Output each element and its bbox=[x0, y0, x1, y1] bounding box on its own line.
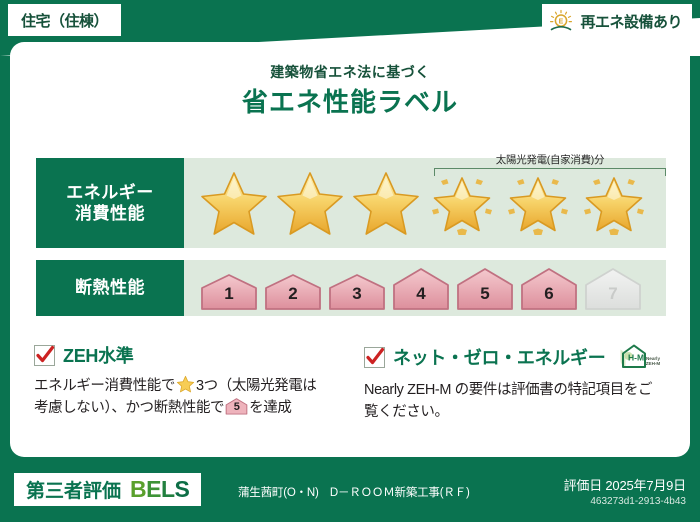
energy-label-line1: エネルギー bbox=[66, 182, 154, 203]
criteria-section: ZEH水準 エネルギー消費性能で3つ（太陽光発電は考慮しない）、かつ断熱性能で5… bbox=[10, 342, 690, 423]
project-name-text: 蒲生茜町(O・N) D－ＲＯＯＭ新築工事(ＲＦ) bbox=[238, 484, 470, 500]
label-subtitle: 建築物省エネ法に基づく bbox=[10, 62, 690, 82]
house-level-inactive-icon bbox=[583, 265, 643, 311]
zeh-body-part-a: エネルギー消費性能で bbox=[34, 378, 175, 394]
house-level-icon bbox=[391, 265, 451, 311]
zehm-house-icon: H-M Nearly ZEH-M bbox=[617, 342, 661, 372]
svg-text:E: E bbox=[559, 19, 564, 26]
nearly-zehm-logo: H-M Nearly ZEH-M bbox=[617, 342, 661, 372]
nze-criteria-block: ネット・ゼロ・エネルギー H-M Nearly ZEH-M Nearly ZEH… bbox=[350, 342, 690, 423]
insulation-performance-label: 断熱性能 bbox=[36, 260, 184, 316]
nze-checkbox[interactable] bbox=[364, 347, 385, 368]
house-level-icon bbox=[455, 265, 515, 311]
star-6-solar bbox=[576, 165, 652, 241]
footer-bar: 第三者評価 BELS 蒲生茜町(O・N) D－ＲＯＯＭ新築工事(ＲＦ) 評価日 … bbox=[0, 462, 700, 522]
insulation-level-3: 3 bbox=[326, 271, 388, 311]
energy-performance-label: エネルギー 消費性能 bbox=[36, 158, 184, 248]
nze-criteria-title: ネット・ゼロ・エネルギー bbox=[393, 344, 605, 370]
insulation-level-4: 4 bbox=[390, 265, 452, 311]
house-level-icon bbox=[263, 271, 323, 311]
bels-wordmark: BELS bbox=[130, 476, 189, 503]
zeh-body-part-b: 3つ（太陽光発電 bbox=[196, 378, 302, 394]
evaluation-date: 評価日 2025年7月9日 bbox=[564, 475, 686, 494]
star-3 bbox=[348, 165, 424, 241]
bels-jp-label: 第三者評価 bbox=[26, 476, 121, 503]
house-level-icon bbox=[199, 271, 259, 311]
star-icon bbox=[176, 375, 195, 393]
zeh-criteria-title: ZEH水準 bbox=[63, 342, 134, 368]
zeh-criteria-body: エネルギー消費性能で3つ（太陽光発電は考慮しない）、かつ断熱性能で5を達成 bbox=[34, 375, 326, 419]
star-solar-icon bbox=[578, 168, 650, 238]
house-level-5-icon: 5 bbox=[225, 397, 248, 415]
nze-criteria-body: Nearly ZEH-M の要件は評価書の特記項目をご覧ください。 bbox=[364, 379, 666, 423]
renewable-equipment-badge: E 再エネ設備あり bbox=[542, 4, 692, 38]
solar-annotation-label: 太陽光発電(自家消費)分 bbox=[434, 152, 666, 167]
building-type-label: 住宅（住棟） bbox=[21, 10, 108, 31]
star-icon bbox=[198, 168, 270, 238]
insulation-level-1: 1 bbox=[198, 271, 260, 311]
nze-criteria-header: ネット・ゼロ・エネルギー H-M Nearly ZEH-M bbox=[364, 342, 666, 372]
check-icon bbox=[364, 347, 386, 367]
zehm-logo-caption-2: ZEH-M bbox=[646, 361, 661, 366]
solar-bracket bbox=[434, 168, 666, 176]
star-2 bbox=[272, 165, 348, 241]
star-5-solar bbox=[500, 165, 576, 241]
star-icon bbox=[274, 168, 346, 238]
zeh-criteria-block: ZEH水準 エネルギー消費性能で3つ（太陽光発電は考慮しない）、かつ断熱性能で5… bbox=[10, 342, 350, 423]
check-icon bbox=[34, 345, 56, 365]
bels-certification-plate: 第三者評価 BELS bbox=[14, 473, 201, 506]
inline-house-number: 5 bbox=[225, 397, 248, 415]
energy-label-line2: 消費性能 bbox=[75, 203, 145, 224]
star-4-solar bbox=[424, 165, 500, 241]
renewable-equipment-label: 再エネ設備あり bbox=[580, 11, 682, 32]
star-1 bbox=[196, 165, 272, 241]
zeh-body-part-d: を達成 bbox=[249, 400, 291, 416]
star-solar-icon bbox=[502, 168, 574, 238]
evaluation-id: 463273d1-2913-4b43 bbox=[564, 496, 686, 507]
insulation-level-6: 6 bbox=[518, 265, 580, 311]
evaluation-info: 評価日 2025年7月9日 463273d1-2913-4b43 bbox=[564, 475, 686, 507]
building-type-tag: 住宅（住棟） bbox=[8, 4, 121, 36]
star-solar-icon bbox=[426, 168, 498, 238]
insulation-levels-panel: 1 2 3 4 bbox=[184, 260, 666, 316]
insulation-level-group: 1 2 3 4 bbox=[184, 260, 666, 316]
label-card: 建築物省エネ法に基づく 省エネ性能ラベル エネルギー 消費性能 bbox=[10, 42, 690, 457]
insulation-level-7: 7 bbox=[582, 265, 644, 311]
house-level-icon bbox=[327, 271, 387, 311]
insulation-level-2: 2 bbox=[262, 271, 324, 311]
insulation-level-5: 5 bbox=[454, 265, 516, 311]
star-icon bbox=[350, 168, 422, 238]
label-title: 省エネ性能ラベル bbox=[10, 82, 690, 119]
zehm-logo-text: H-M bbox=[628, 353, 644, 363]
zeh-checkbox[interactable] bbox=[34, 345, 55, 366]
zeh-criteria-header: ZEH水準 bbox=[34, 342, 326, 368]
insulation-label-text: 断熱性能 bbox=[75, 277, 145, 298]
solar-sun-icon: E bbox=[548, 9, 574, 33]
insulation-performance-row: 断熱性能 1 bbox=[36, 260, 666, 316]
solar-contribution-annotation: 太陽光発電(自家消費)分 bbox=[434, 152, 666, 176]
house-level-icon bbox=[519, 265, 579, 311]
